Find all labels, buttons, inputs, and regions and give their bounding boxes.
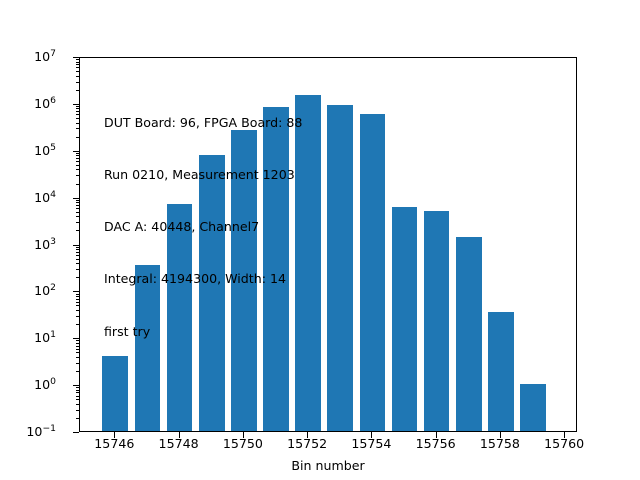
y-tick-label: 10−1 bbox=[26, 425, 56, 438]
x-tick-label: 15756 bbox=[416, 437, 456, 451]
annotation-line-2: Run 0210, Measurement 1203 bbox=[104, 166, 302, 183]
y-tick-label: 105 bbox=[34, 144, 56, 157]
x-axis-label: Bin number bbox=[79, 458, 577, 473]
y-tick-label: 100 bbox=[34, 378, 56, 391]
annotation-text-block: DUT Board: 96, FPGA Board: 88 Run 0210, … bbox=[104, 79, 302, 375]
bar bbox=[456, 237, 482, 431]
y-tick-label: 101 bbox=[34, 331, 56, 344]
y-tick-label: 102 bbox=[34, 284, 56, 297]
x-tick-label: 15752 bbox=[287, 437, 327, 451]
bar bbox=[424, 211, 450, 431]
x-tick-label: 15746 bbox=[94, 437, 134, 451]
y-tick-mark bbox=[73, 432, 79, 433]
bar bbox=[520, 384, 546, 431]
y-tick-label: 107 bbox=[34, 50, 56, 63]
bar bbox=[360, 114, 386, 431]
matplotlib-figure: Bin counts 10710610510410310210110010−1 … bbox=[0, 0, 640, 480]
bar bbox=[392, 207, 418, 431]
y-tick-label: 103 bbox=[34, 238, 56, 251]
annotation-line-4: Integral: 4194300, Width: 14 bbox=[104, 270, 302, 287]
y-tick-label: 104 bbox=[34, 191, 56, 204]
x-tick-label: 15758 bbox=[480, 437, 520, 451]
annotation-line-5: first try bbox=[104, 323, 302, 340]
annotation-line-1: DUT Board: 96, FPGA Board: 88 bbox=[104, 114, 302, 131]
x-tick-label: 15748 bbox=[159, 437, 199, 451]
x-tick-label: 15754 bbox=[351, 437, 391, 451]
annotation-line-3: DAC A: 40448, Channel7 bbox=[104, 218, 302, 235]
y-tick-label: 106 bbox=[34, 97, 56, 110]
bar bbox=[327, 105, 353, 431]
bar bbox=[488, 312, 514, 431]
x-tick-label: 15750 bbox=[223, 437, 263, 451]
x-tick-label: 15760 bbox=[544, 437, 584, 451]
